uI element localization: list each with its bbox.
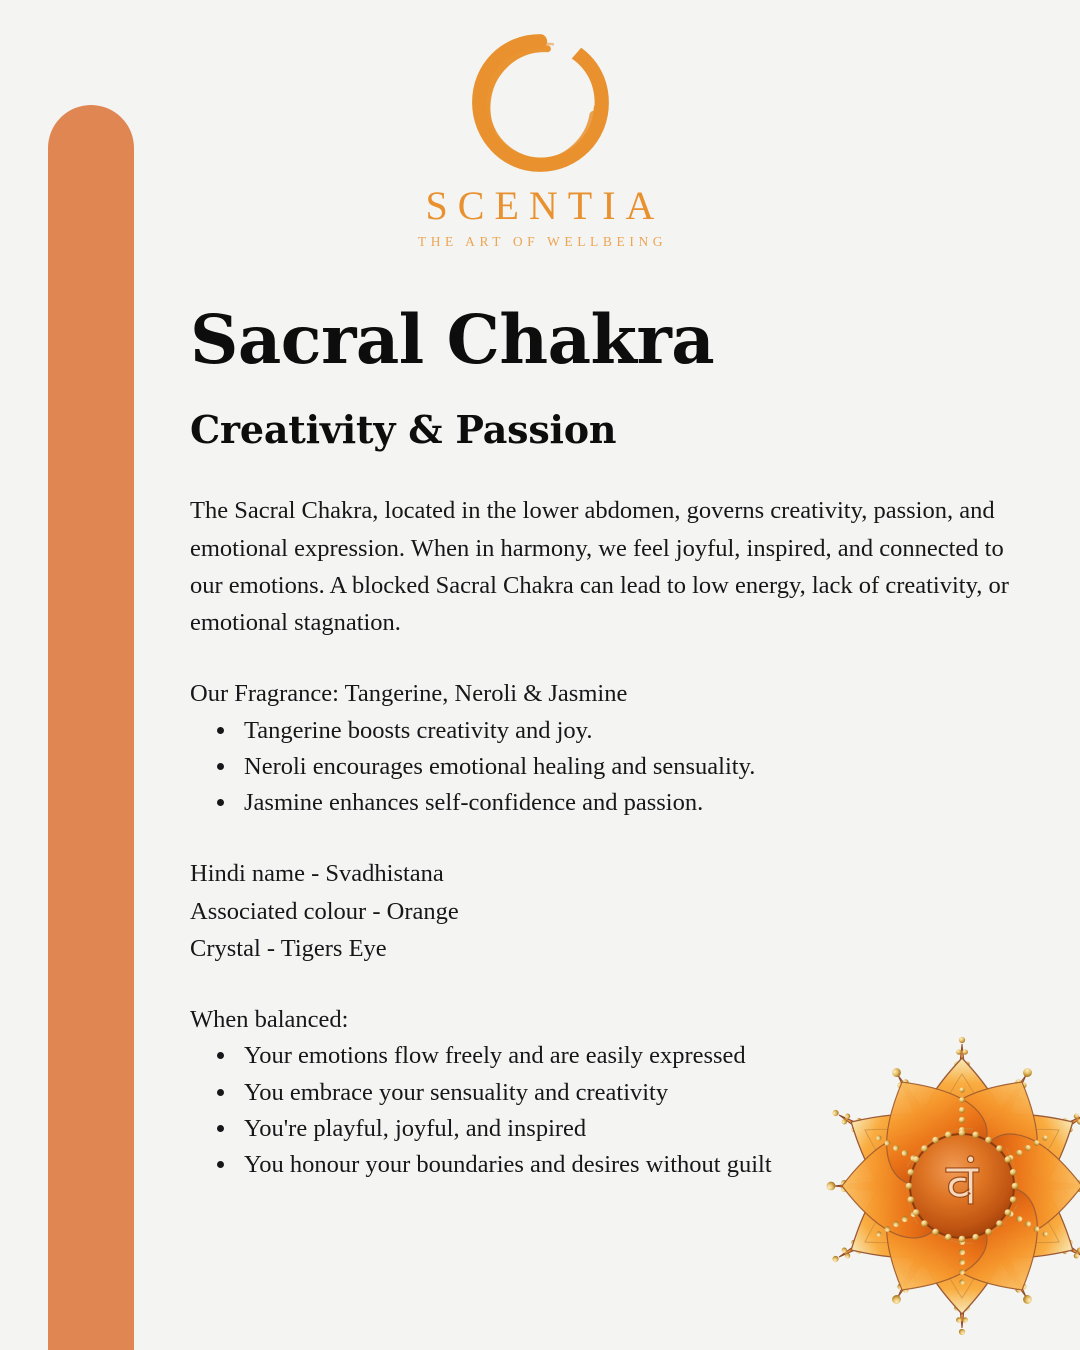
- svadhisthana-chakra-icon: वं: [812, 1036, 1080, 1336]
- list-item: Jasmine enhances self-confidence and pas…: [238, 785, 1050, 821]
- bija-mantra-glyph: वं: [946, 1150, 980, 1218]
- list-item: Neroli encourages emotional healing and …: [238, 749, 1050, 785]
- brand-name: SCENTIA: [0, 186, 1080, 226]
- detail-associated-colour: Associated colour - Orange: [190, 893, 1050, 930]
- brand-logo: SCENTIA THE ART OF WELLBEING: [0, 28, 1080, 249]
- fragrance-section: Our Fragrance: Tangerine, Neroli & Jasmi…: [190, 675, 1050, 821]
- page-title: Sacral Chakra: [190, 305, 1050, 375]
- enso-brush-circle-icon: [464, 28, 616, 180]
- detail-hindi-name: Hindi name - Svadhistana: [190, 855, 1050, 892]
- left-accent-bar: [48, 105, 134, 1350]
- intro-paragraph: The Sacral Chakra, located in the lower …: [190, 492, 1040, 641]
- list-item: Tangerine boosts creativity and joy.: [238, 713, 1050, 749]
- fragrance-heading: Our Fragrance: Tangerine, Neroli & Jasmi…: [190, 675, 1050, 712]
- details-section: Hindi name - Svadhistana Associated colo…: [190, 855, 1050, 967]
- balanced-heading: When balanced:: [190, 1001, 1050, 1038]
- detail-crystal: Crystal - Tigers Eye: [190, 930, 1050, 967]
- fragrance-list: Tangerine boosts creativity and joy. Ner…: [190, 713, 1050, 822]
- brand-tagline: THE ART OF WELLBEING: [0, 235, 1080, 249]
- page-subtitle: Creativity & Passion: [190, 409, 1050, 451]
